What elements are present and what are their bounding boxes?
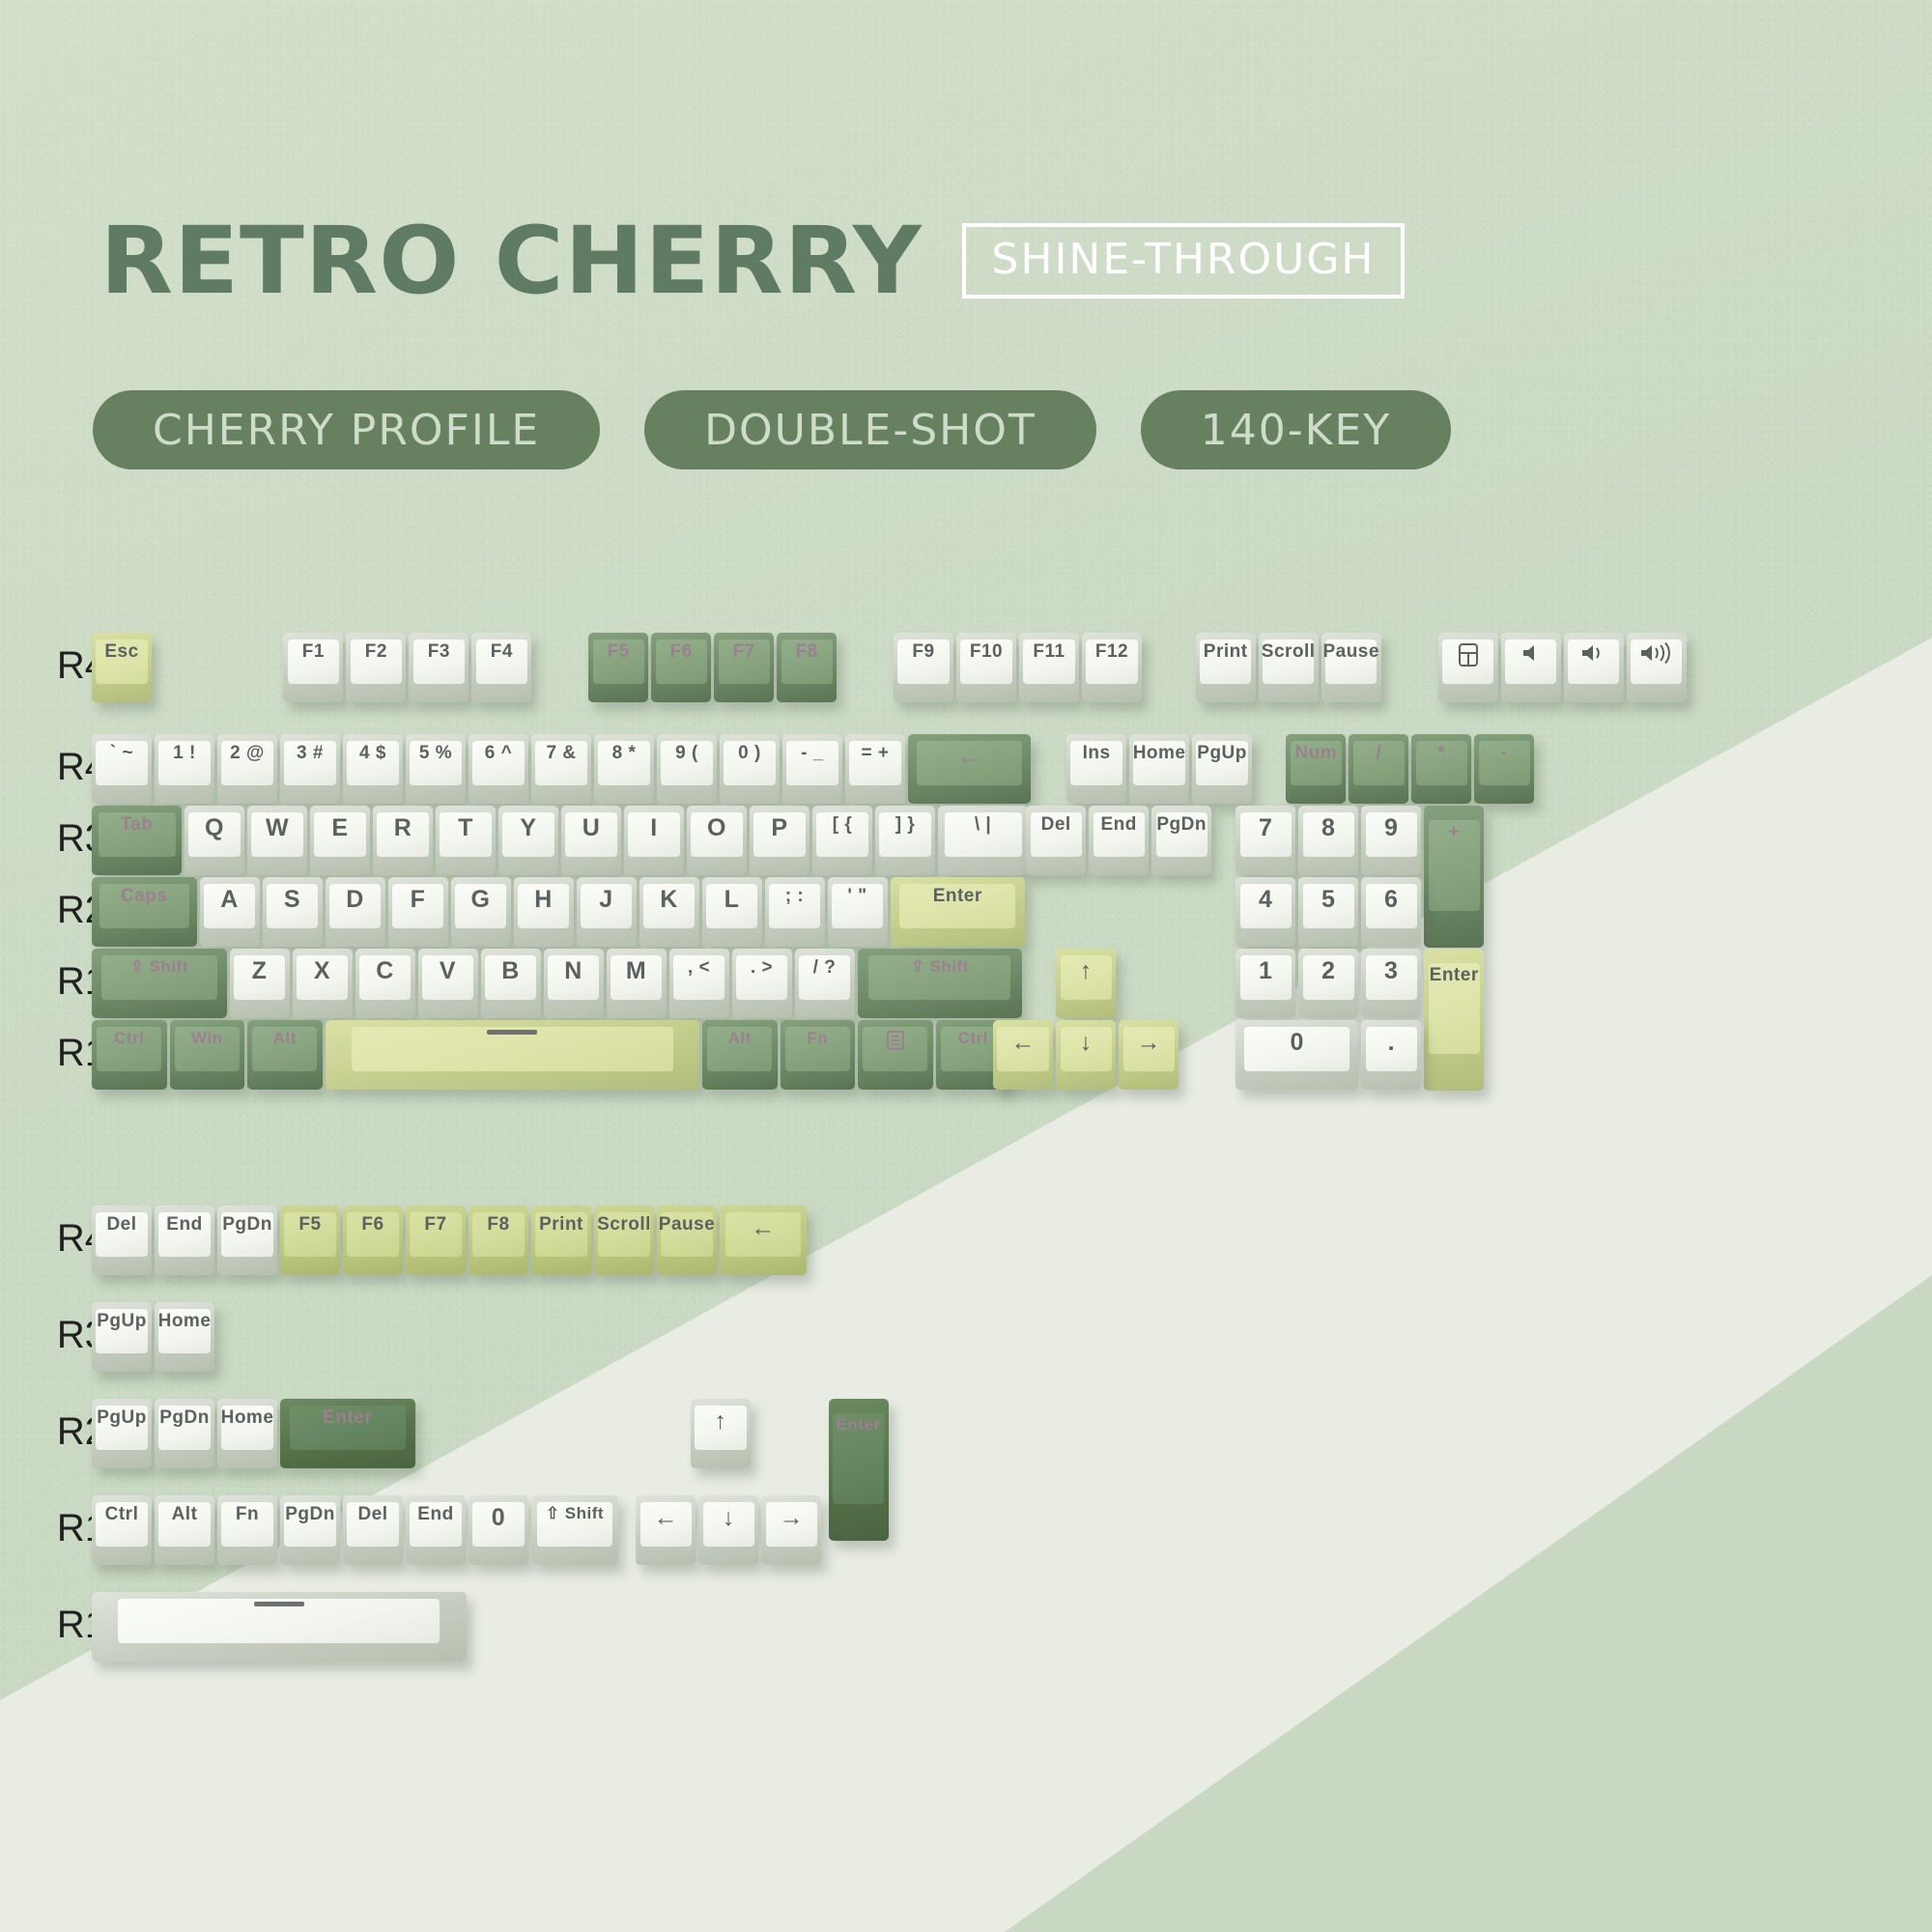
- keycap-legend: 6 ^: [485, 744, 512, 763]
- keycap-top-surface: Z: [234, 955, 285, 1000]
- keycap-legend: 4 $: [359, 744, 386, 763]
- keycap-top-surface: F: [392, 884, 443, 928]
- keycap-9[interactable]: 9 (: [657, 734, 717, 804]
- keycap-0[interactable]: 0: [469, 1495, 528, 1565]
- keycap-4[interactable]: 4: [1236, 877, 1295, 947]
- keycap-scroll[interactable]: Scroll: [1259, 633, 1319, 702]
- keycap-u[interactable]: U: [561, 806, 621, 875]
- keycap-top-surface: , <: [673, 955, 724, 1000]
- extra-arrow-left-glyph: ←: [654, 1505, 679, 1530]
- keycap-r[interactable]: R: [373, 806, 433, 875]
- keycap-fn[interactable]: Fn: [217, 1495, 277, 1565]
- keycap-blank[interactable]: - _: [782, 734, 842, 804]
- keycap-legend: , <: [688, 958, 710, 978]
- keycap-legend: Home: [221, 1408, 274, 1428]
- keycap-top-surface: H: [518, 884, 569, 928]
- keycap-top-surface: PgDn: [284, 1502, 335, 1547]
- keycap-top-surface: →: [766, 1502, 817, 1547]
- keycap-top-surface: 0: [1244, 1027, 1350, 1071]
- keycap-blank[interactable]: ' ": [828, 877, 888, 947]
- keycap-f5[interactable]: F5: [588, 633, 648, 702]
- keycap-arrow-right[interactable]: →: [1119, 1020, 1179, 1090]
- keycap-del[interactable]: Del: [1026, 806, 1086, 875]
- keycap-legend: F8: [487, 1215, 509, 1235]
- keycap-top-surface: F12: [1086, 639, 1137, 684]
- keycap-1[interactable]: 1: [1236, 949, 1295, 1018]
- keycap-top-surface: B: [485, 955, 536, 1000]
- keycap-top-surface: ⇧ Shift: [868, 955, 1010, 1000]
- keycap-legend: O: [707, 815, 726, 840]
- keycap-top-surface: 6 ^: [472, 741, 524, 785]
- keycap-blank[interactable]: / ?: [795, 949, 855, 1018]
- keycap-legend: X: [314, 958, 330, 983]
- keycap-top-surface: I: [628, 812, 679, 857]
- keycap-f1[interactable]: F1: [283, 633, 343, 702]
- keycap-f12[interactable]: F12: [1082, 633, 1142, 702]
- keycap-8[interactable]: 8: [1298, 806, 1358, 875]
- keycap-extra-arrow-up[interactable]: ↑: [691, 1399, 751, 1468]
- keycap-volume-down-icon[interactable]: [1564, 633, 1624, 702]
- keycap-pgup[interactable]: PgUp: [92, 1399, 152, 1468]
- keycap-menu-icon[interactable]: [858, 1020, 933, 1090]
- keycap-legend: 5: [1321, 887, 1335, 912]
- keycap-legend: ⇧ Shift: [546, 1505, 604, 1522]
- keycap-1[interactable]: 1 !: [155, 734, 214, 804]
- keycap-ctrl[interactable]: Ctrl: [92, 1020, 167, 1090]
- keycap-7[interactable]: 7 &: [531, 734, 591, 804]
- keycap-top-surface: K: [643, 884, 695, 928]
- keycap-top-surface: ←: [640, 1502, 692, 1547]
- keycap-arrow-up[interactable]: ↑: [1056, 949, 1116, 1018]
- keycap-fn[interactable]: Fn: [781, 1020, 856, 1090]
- keycap-top-surface: 3: [1366, 955, 1417, 1000]
- keycap-legend: ` ~: [110, 744, 133, 763]
- keycap-7[interactable]: 7: [1236, 806, 1295, 875]
- keycap-3[interactable]: 3: [1361, 949, 1421, 1018]
- keycap-top-surface: F7: [719, 639, 770, 684]
- keycap-6[interactable]: 6 ^: [469, 734, 528, 804]
- keycap-top-surface: / ?: [799, 955, 850, 1000]
- keycap-blank[interactable]: ] }: [875, 806, 935, 875]
- keycap-blank[interactable]: [ {: [812, 806, 872, 875]
- keycap-l[interactable]: L: [702, 877, 762, 947]
- keycap-blank[interactable]: ` ~: [92, 734, 152, 804]
- keycap-top-surface: [1505, 639, 1556, 684]
- keycap-top-surface: [1568, 639, 1619, 684]
- keycap-pause[interactable]: Pause: [657, 1206, 717, 1275]
- keycap-o[interactable]: O: [687, 806, 747, 875]
- keycap-f8[interactable]: F8: [777, 633, 837, 702]
- keycap-blank[interactable]: /: [1349, 734, 1408, 804]
- keycap-top-surface: 9: [1366, 812, 1417, 857]
- keycap-backspace[interactable]: ←: [908, 734, 1031, 804]
- keycap-legend: 3 #: [297, 744, 324, 763]
- arrow-down-glyph: ↓: [1080, 1030, 1093, 1055]
- keycap-5[interactable]: 5: [1298, 877, 1358, 947]
- keycap-0[interactable]: 0 ): [720, 734, 780, 804]
- keycap-top-surface: Q: [188, 812, 240, 857]
- keycap-3[interactable]: 3 #: [280, 734, 340, 804]
- keycap-top-surface: PgUp: [96, 1309, 147, 1353]
- keycap-del[interactable]: Del: [343, 1495, 403, 1565]
- keycap-home[interactable]: Home: [155, 1302, 214, 1372]
- keycap-legend: 8: [1321, 815, 1335, 840]
- keycap-top-surface: Scroll: [598, 1212, 649, 1257]
- keycap-caps[interactable]: Caps: [92, 877, 197, 947]
- keycap-top-surface: 4 $: [347, 741, 398, 785]
- keycap-b[interactable]: B: [481, 949, 541, 1018]
- keycap-2[interactable]: 2: [1298, 949, 1358, 1018]
- keycap-top-surface: Y: [502, 812, 554, 857]
- keycap-t[interactable]: T: [436, 806, 496, 875]
- keycap-ctrl[interactable]: Ctrl: [92, 1495, 152, 1565]
- keycap-a[interactable]: A: [200, 877, 260, 947]
- keycap-f[interactable]: F: [388, 877, 448, 947]
- volume-down-icon: [1579, 642, 1608, 664]
- keycap-legend: +: [1448, 823, 1460, 842]
- keycap-end[interactable]: End: [1089, 806, 1149, 875]
- keycap-end[interactable]: End: [155, 1206, 214, 1275]
- keycap-f6[interactable]: F6: [651, 633, 711, 702]
- keycap-legend: Y: [520, 815, 536, 840]
- keycap-mute-icon[interactable]: [1501, 633, 1561, 702]
- keycap-legend: F6: [670, 642, 693, 662]
- keycap-top-surface: Pause: [661, 1212, 712, 1257]
- keycap-top-surface: ←: [725, 1212, 800, 1257]
- keycap-top-surface: F6: [347, 1212, 398, 1257]
- keycap-f7[interactable]: F7: [714, 633, 774, 702]
- keycap-esc[interactable]: Esc: [92, 633, 152, 702]
- keycap-top-surface: 0 ): [724, 741, 775, 785]
- keycap-pause[interactable]: Pause: [1321, 633, 1381, 702]
- keycap-legend: F5: [298, 1215, 321, 1235]
- keycap-scroll[interactable]: Scroll: [594, 1206, 654, 1275]
- keycap-5[interactable]: 5 %: [406, 734, 466, 804]
- keycap-extra-numpad-enter-tall[interactable]: Enter: [829, 1399, 889, 1541]
- homing-dash: [254, 1602, 304, 1606]
- keycap-legend: F6: [361, 1215, 384, 1235]
- keycap-top-surface: Win: [175, 1027, 240, 1071]
- keycap-legend: \ |: [975, 815, 991, 835]
- keycap-legend: PgUp: [97, 1408, 147, 1428]
- keycap-top-surface: X: [297, 955, 348, 1000]
- keycap-legend: Alt: [728, 1030, 752, 1047]
- keycap-extra-arrow-right[interactable]: →: [761, 1495, 821, 1565]
- keycap-legend: P: [771, 815, 787, 840]
- keycap-top-surface: Del: [1031, 812, 1082, 857]
- keycap-top-surface: J: [581, 884, 632, 928]
- keycap-top-surface: P: [753, 812, 805, 857]
- keycap-pgdn[interactable]: PgDn: [280, 1495, 340, 1565]
- keycap-legend: ⇧ Shift: [130, 958, 188, 976]
- keycap-top-surface: 8 *: [598, 741, 649, 785]
- keycap-legend: C: [376, 958, 394, 983]
- keycap-blank[interactable]: ; :: [765, 877, 825, 947]
- keycap-pgup[interactable]: PgUp: [1192, 734, 1252, 804]
- keycap-top-surface: Ins: [1070, 741, 1122, 785]
- keycap-pgdn[interactable]: PgDn: [217, 1206, 277, 1275]
- keycap-top-surface: Enter: [899, 884, 1015, 928]
- keycap-top-surface: \ |: [945, 812, 1022, 857]
- keycap-legend: Caps: [121, 887, 167, 906]
- keycap-right-shift[interactable]: ⇧ Shift: [858, 949, 1023, 1018]
- keycap-top-surface: ←: [917, 741, 1022, 785]
- keycap-top-surface: 1: [1240, 955, 1292, 1000]
- keycap-z[interactable]: Z: [230, 949, 290, 1018]
- keycap-pgup[interactable]: PgUp: [92, 1302, 152, 1372]
- keycap-alt[interactable]: Alt: [702, 1020, 778, 1090]
- keycap-9[interactable]: 9: [1361, 806, 1421, 875]
- keycap-print[interactable]: Print: [531, 1206, 591, 1275]
- keycap-legend: Win: [191, 1030, 223, 1047]
- keycap-top-surface: F5: [593, 639, 644, 684]
- keycap-top-surface: 2: [1303, 955, 1354, 1000]
- keycap-top-surface: F3: [413, 639, 465, 684]
- keycap-legend: Print: [539, 1215, 583, 1235]
- keycap-top-surface: F1: [288, 639, 339, 684]
- keycap-top-surface: F11: [1023, 639, 1074, 684]
- keycap-top-surface: End: [1094, 812, 1145, 857]
- keycap-y[interactable]: Y: [498, 806, 558, 875]
- keycap-legend: /: [1376, 744, 1381, 763]
- keycap-legend: ⇧ Shift: [911, 958, 969, 976]
- keycap-e[interactable]: E: [310, 806, 370, 875]
- keycap-f10[interactable]: F10: [956, 633, 1016, 702]
- keycap-legend: 9 (: [675, 744, 698, 763]
- keycap-arrow-left[interactable]: ←: [993, 1020, 1053, 1090]
- keycap-8[interactable]: 8 *: [594, 734, 654, 804]
- keycap-top-surface: Pause: [1325, 639, 1377, 684]
- keycap-legend: = +: [862, 744, 890, 763]
- keycap-legend: Tab: [121, 815, 154, 835]
- mute-icon: [1520, 642, 1543, 664]
- keycap-print[interactable]: Print: [1196, 633, 1256, 702]
- keycap-extra-spacebar[interactable]: [92, 1592, 467, 1662]
- keycap-top-surface: F4: [476, 639, 527, 684]
- keycap-legend: B: [501, 958, 520, 983]
- keycap-blank[interactable]: . >: [732, 949, 792, 1018]
- keycap-blank[interactable]: , <: [669, 949, 729, 1018]
- keycap-blank[interactable]: \ |: [938, 806, 1028, 875]
- keycap-blank[interactable]: = +: [845, 734, 905, 804]
- keycap-legend: PgDn: [1156, 815, 1207, 835]
- keycap-top-surface: PgDn: [221, 1212, 272, 1257]
- keycap-top-surface: Print: [535, 1212, 586, 1257]
- keycap-2[interactable]: 2 @: [217, 734, 277, 804]
- keycap-legend: J: [599, 887, 612, 912]
- keycap-g[interactable]: G: [451, 877, 511, 947]
- keycap-f7[interactable]: F7: [406, 1206, 466, 1275]
- keycap-legend: Fn: [236, 1505, 259, 1524]
- keycap-legend: F10: [970, 642, 1003, 662]
- keycap-legend: Del: [106, 1215, 136, 1235]
- keycap-legend: 1: [1259, 958, 1272, 983]
- keycap-top-surface: 9 (: [661, 741, 712, 785]
- keycap-ins[interactable]: Ins: [1066, 734, 1126, 804]
- keycap-top-surface: 1 !: [158, 741, 210, 785]
- keycap-extra-shift[interactable]: ⇧ Shift: [531, 1495, 618, 1565]
- keycap-k[interactable]: K: [639, 877, 699, 947]
- keycap-q[interactable]: Q: [185, 806, 244, 875]
- keycap-top-surface: PgDn: [1156, 812, 1207, 857]
- keycap-enter[interactable]: Enter: [891, 877, 1026, 947]
- keycap-f3[interactable]: F3: [409, 633, 469, 702]
- keycap-numpad-plus[interactable]: +: [1424, 806, 1484, 948]
- keycap-legend: / ?: [813, 958, 837, 978]
- keycap-top-surface: End: [158, 1212, 210, 1257]
- keycap-top-surface: Enter: [1429, 963, 1480, 1054]
- keycap-legend: G: [471, 887, 491, 912]
- keycap-top-surface: →: [1123, 1027, 1175, 1071]
- keycap-blank[interactable]: *: [1411, 734, 1471, 804]
- keycap-i[interactable]: I: [624, 806, 684, 875]
- keycap-legend: Scroll: [1262, 642, 1316, 662]
- keycap-p[interactable]: P: [750, 806, 810, 875]
- keycap-blank[interactable]: -: [1474, 734, 1534, 804]
- keycap-extra-backspace[interactable]: ←: [720, 1206, 807, 1275]
- keycap-legend: 7: [1259, 815, 1272, 840]
- arrow-up-glyph: ↑: [1080, 958, 1093, 983]
- keycap-pgdn[interactable]: PgDn: [155, 1399, 214, 1468]
- keycap-6[interactable]: 6: [1361, 877, 1421, 947]
- keycap-legend: Print: [1204, 642, 1248, 662]
- keycap-top-surface: 8: [1303, 812, 1354, 857]
- keycap-s[interactable]: S: [263, 877, 323, 947]
- keycap-top-surface: Home: [158, 1309, 210, 1353]
- keycap-top-surface: ←: [997, 1027, 1048, 1071]
- keycap-legend: 1 !: [173, 744, 196, 763]
- keycap-volume-up-icon[interactable]: [1627, 633, 1687, 702]
- keycap-c[interactable]: C: [355, 949, 415, 1018]
- keycap-top-surface: F8: [472, 1212, 524, 1257]
- arrow-right-glyph: →: [1137, 1030, 1162, 1055]
- keycap-numpad-0[interactable]: 0: [1236, 1020, 1358, 1090]
- keycap-f6[interactable]: F6: [343, 1206, 403, 1275]
- keycap-top-surface: [118, 1599, 440, 1643]
- keycap-top-surface: +: [1429, 820, 1480, 911]
- keycap-alt[interactable]: Alt: [247, 1020, 323, 1090]
- keycap-win[interactable]: Win: [170, 1020, 245, 1090]
- keycap-del[interactable]: Del: [92, 1206, 152, 1275]
- keycap-top-surface: [863, 1027, 927, 1071]
- keycap-extra-arrow-left[interactable]: ←: [636, 1495, 696, 1565]
- keycap-top-surface: 0: [472, 1502, 524, 1547]
- keycap-v[interactable]: V: [418, 949, 478, 1018]
- keycap-calculator-icon[interactable]: [1438, 633, 1498, 702]
- keycap-f11[interactable]: F11: [1019, 633, 1079, 702]
- keycap-top-surface: Ctrl: [96, 1502, 147, 1547]
- keycap-j[interactable]: J: [577, 877, 637, 947]
- keycap-d[interactable]: D: [326, 877, 385, 947]
- keycap-tab[interactable]: Tab: [92, 806, 182, 875]
- keycap-legend: S: [284, 887, 300, 912]
- keycap-top-surface: Home: [1133, 741, 1184, 785]
- calculator-icon: [1458, 642, 1479, 668]
- keycap-legend: F7: [424, 1215, 446, 1235]
- keycap-extra-enter[interactable]: Enter: [280, 1399, 415, 1468]
- extra-arrow-down-glyph: ↓: [723, 1505, 735, 1530]
- keycap-top-surface: Tab: [99, 812, 176, 857]
- keycap-legend: Ctrl: [114, 1030, 144, 1047]
- keycap-legend: 5 %: [419, 744, 452, 763]
- keycap-home[interactable]: Home: [1129, 734, 1189, 804]
- keycap-f4[interactable]: F4: [471, 633, 531, 702]
- keycap-top-surface: ] }: [879, 812, 930, 857]
- keycap-top-surface: ⇧ Shift: [101, 955, 217, 1000]
- keycap-legend: PgDn: [285, 1505, 335, 1524]
- keycap-f8[interactable]: F8: [469, 1206, 528, 1275]
- keycap-home[interactable]: Home: [217, 1399, 277, 1468]
- keycap-m[interactable]: M: [607, 949, 667, 1018]
- keycap-numpad-enter[interactable]: Enter: [1424, 949, 1484, 1091]
- keycap-legend: Del: [357, 1505, 387, 1524]
- keycap-arrow-down[interactable]: ↓: [1056, 1020, 1116, 1090]
- keycap-pgdn[interactable]: PgDn: [1151, 806, 1211, 875]
- keycap-spacebar[interactable]: [326, 1020, 700, 1090]
- keycap-x[interactable]: X: [293, 949, 353, 1018]
- keycap-legend: U: [582, 815, 601, 840]
- keycap-top-surface: C: [359, 955, 411, 1000]
- keycap-top-surface: ↓: [1061, 1027, 1112, 1071]
- keycap-alt[interactable]: Alt: [155, 1495, 214, 1565]
- keycap-top-surface: V: [422, 955, 473, 1000]
- volume-up-icon: [1638, 642, 1675, 664]
- keycap-f9[interactable]: F9: [894, 633, 953, 702]
- keycap-top-surface: Alt: [707, 1027, 772, 1071]
- keycap-top-surface: 7 &: [535, 741, 586, 785]
- keycap-top-surface: Enter: [290, 1406, 406, 1450]
- keycap-top-surface: F9: [897, 639, 949, 684]
- keycap-legend: Ctrl: [958, 1030, 988, 1047]
- keycap-legend: F: [411, 887, 426, 912]
- keycap-legend: Q: [205, 815, 224, 840]
- keycap-top-surface: Fn: [221, 1502, 272, 1547]
- keycap-num[interactable]: Num: [1286, 734, 1346, 804]
- keycap-top-surface: Num: [1291, 741, 1342, 785]
- keycap-n[interactable]: N: [544, 949, 604, 1018]
- keycap-legend: ' ": [847, 887, 867, 906]
- keycap-top-surface: 7: [1240, 812, 1292, 857]
- keycap-4[interactable]: 4 $: [343, 734, 403, 804]
- keycap-legend: *: [1437, 744, 1445, 763]
- keycap-top-surface: Ctrl: [97, 1027, 161, 1071]
- keycap-end[interactable]: End: [406, 1495, 466, 1565]
- keycap-top-surface: ; :: [769, 884, 820, 928]
- keycap-legend: Enter: [933, 887, 982, 906]
- keycap-legend: Alt: [273, 1030, 297, 1047]
- keycap-legend: PgDn: [159, 1408, 210, 1428]
- keycap-top-surface: End: [410, 1502, 461, 1547]
- keycap-top-surface: [352, 1027, 673, 1071]
- keycap-top-surface: U: [565, 812, 616, 857]
- keycap-f5[interactable]: F5: [280, 1206, 340, 1275]
- keycap-legend: Num: [1294, 744, 1337, 763]
- keycap-left-shift[interactable]: ⇧ Shift: [92, 949, 227, 1018]
- keycap-h[interactable]: H: [514, 877, 574, 947]
- keycap-numpad-decimal[interactable]: .: [1361, 1020, 1421, 1090]
- keycap-w[interactable]: W: [247, 806, 307, 875]
- keycap-legend: 3: [1384, 958, 1398, 983]
- keycap-top-surface: Print: [1200, 639, 1251, 684]
- keycap-f2[interactable]: F2: [346, 633, 406, 702]
- keycap-legend: . >: [751, 958, 773, 978]
- keycap-top-surface: F7: [410, 1212, 461, 1257]
- keycap-extra-arrow-down[interactable]: ↓: [698, 1495, 758, 1565]
- keycap-legend: ] }: [895, 815, 916, 835]
- keycap-top-surface: O: [691, 812, 742, 857]
- keycap-legend: Alt: [172, 1505, 198, 1524]
- keycap-legend: F12: [1095, 642, 1128, 662]
